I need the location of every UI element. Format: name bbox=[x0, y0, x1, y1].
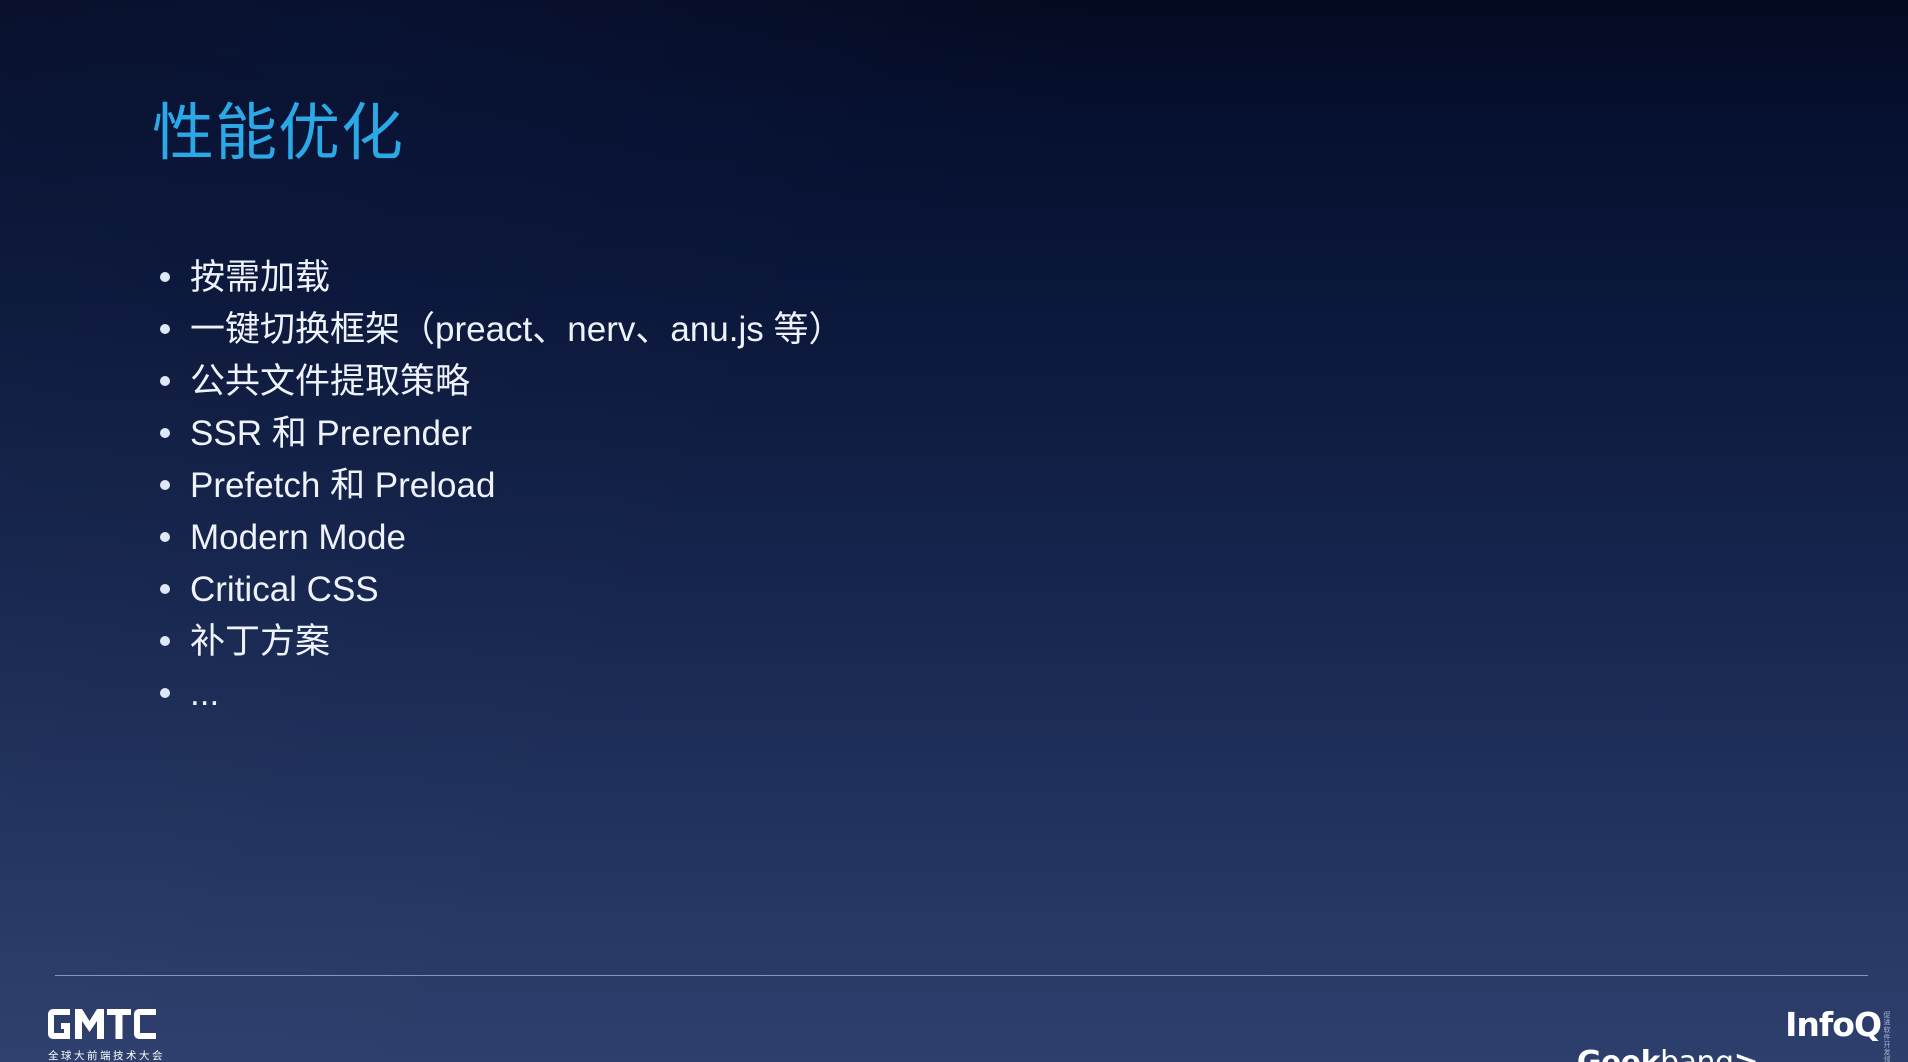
sponsor-block: 主办方 Geekbang>. 极客邦科技 InfoQ 促进软件开发领域知识与创新… bbox=[1526, 1008, 1890, 1062]
list-item-label: 一键切换框架（preact、nerv、anu.js 等） bbox=[190, 304, 843, 356]
bullet-dot-icon bbox=[160, 618, 190, 670]
infoq-tagline: 促进软件开发领域知识与创新的传播 bbox=[1882, 1011, 1890, 1062]
bullet-dot-icon bbox=[160, 358, 190, 410]
bullet-dot-icon bbox=[160, 514, 190, 566]
bullet-list: 按需加载 一键切换框架（preact、nerv、anu.js 等） 公共文件提取… bbox=[160, 252, 1660, 720]
slide-canvas: 性能优化 按需加载 一键切换框架（preact、nerv、anu.js 等） 公… bbox=[0, 0, 1908, 1062]
list-item-label: Modern Mode bbox=[190, 512, 406, 564]
list-item: 补丁方案 bbox=[160, 616, 1660, 668]
bullet-dot-icon bbox=[160, 410, 190, 462]
list-item-label: Critical CSS bbox=[190, 564, 379, 616]
list-item-label: 公共文件提取策略 bbox=[190, 356, 470, 408]
geekbang-logo: Geekbang>. 极客邦科技 bbox=[1577, 1048, 1769, 1062]
bullet-dot-icon bbox=[160, 254, 190, 306]
list-item: Critical CSS bbox=[160, 564, 1660, 616]
list-item: SSR 和 Prerender bbox=[160, 408, 1660, 460]
geekbang-wordmark-thin: bang bbox=[1660, 1045, 1733, 1062]
bullet-dot-icon bbox=[160, 670, 190, 722]
geekbang-wordmark-suffix: >. bbox=[1734, 1045, 1770, 1062]
list-item-label: 补丁方案 bbox=[190, 616, 330, 668]
list-item: ... bbox=[160, 668, 1660, 720]
list-item: 按需加载 bbox=[160, 252, 1660, 304]
list-item-label: ... bbox=[190, 668, 219, 720]
footer-divider bbox=[55, 975, 1868, 976]
list-item-label: Prefetch 和 Preload bbox=[190, 460, 495, 512]
bullet-dot-icon bbox=[160, 462, 190, 514]
bullet-dot-icon bbox=[160, 566, 190, 618]
infoq-wordmark: InfoQ bbox=[1785, 1008, 1881, 1042]
infoq-logo: InfoQ 促进软件开发领域知识与创新的传播 bbox=[1785, 1008, 1890, 1062]
list-item-label: 按需加载 bbox=[190, 252, 330, 304]
bullet-dot-icon bbox=[160, 306, 190, 358]
list-item: 公共文件提取策略 bbox=[160, 356, 1660, 408]
page-title: 性能优化 bbox=[152, 98, 404, 169]
gmtc-conference-logo: 全球大前端技术大会 bbox=[48, 1006, 233, 1062]
geekbang-wordmark-bold: Geek bbox=[1577, 1045, 1660, 1062]
geekbang-wordmark: Geekbang>. bbox=[1577, 1048, 1769, 1062]
list-item: Modern Mode bbox=[160, 512, 1660, 564]
gmtc-wordmark-icon bbox=[48, 1006, 156, 1042]
list-item-label: SSR 和 Prerender bbox=[190, 408, 472, 460]
list-item: 一键切换框架（preact、nerv、anu.js 等） bbox=[160, 304, 1660, 356]
gmtc-subtitle: 全球大前端技术大会 bbox=[48, 1050, 233, 1062]
list-item: Prefetch 和 Preload bbox=[160, 460, 1660, 512]
